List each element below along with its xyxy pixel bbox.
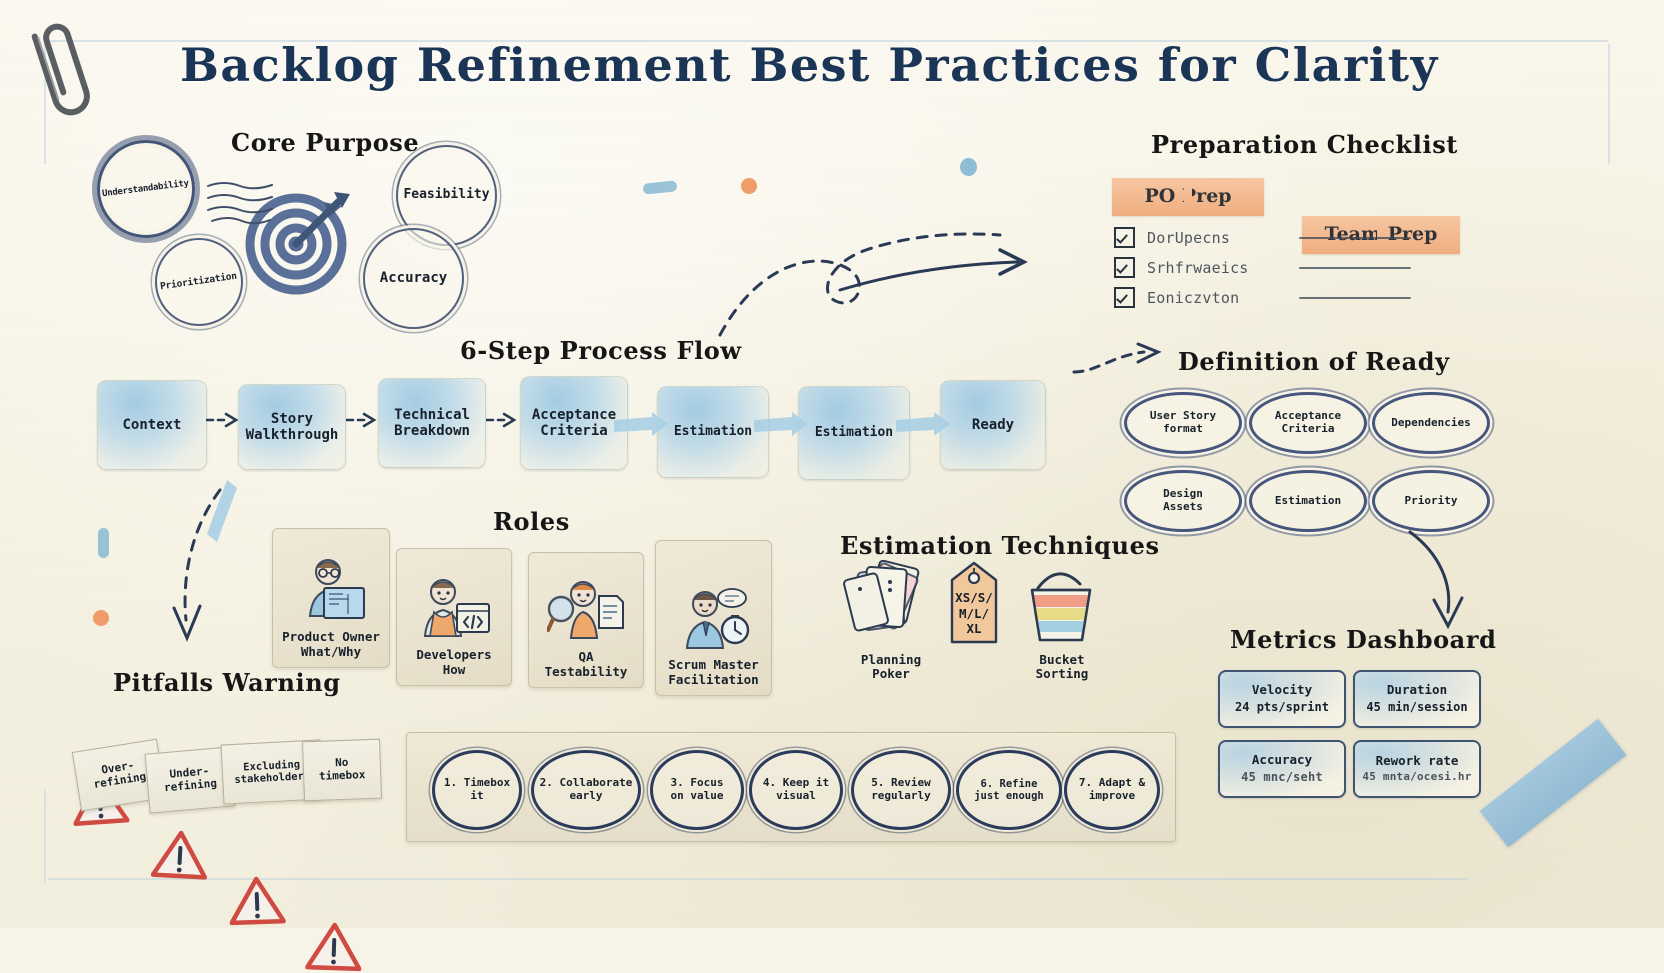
role-label-line1: QA	[578, 649, 593, 664]
role-label-line2: Facilitation	[668, 672, 758, 687]
dor-item-acceptance-criteria[interactable]: Acceptance Criteria	[1249, 392, 1367, 454]
tip-circle-5[interactable]: 5. Review regularly	[851, 750, 951, 830]
step-label-line2: Breakdown	[394, 423, 470, 439]
tip-label-line1: 7. Adapt &	[1079, 776, 1145, 789]
bucket-label-line2: Sorting	[1036, 666, 1089, 681]
pitfall-label-line2: refining	[93, 770, 147, 791]
tip-label-line2: early	[569, 789, 602, 802]
tip-circle-3[interactable]: 3. Focus on value	[650, 750, 744, 830]
pitfall-label-line1: No	[335, 756, 349, 769]
blue-brush-stroke-decoration	[205, 478, 239, 544]
tip-circle-6[interactable]: 6. Refine just enough	[956, 750, 1062, 830]
checklist-item-label: Eoniczvton	[1147, 289, 1287, 307]
checklist-write-line	[1299, 267, 1411, 269]
core-purpose-bubble-prioritization[interactable]: Prioritization	[155, 238, 243, 326]
dor-label-line2: format	[1163, 422, 1203, 435]
dor-item-user-story-format[interactable]: User Story format	[1124, 392, 1242, 454]
checklist-row[interactable]: Srhfrwaeics	[1114, 257, 1464, 278]
step-label-line1: Acceptance	[532, 407, 616, 423]
tip-label: 5. Review regularly	[871, 777, 931, 802]
tip-label-line1: 4. Keep it	[763, 776, 829, 789]
po-prep-label: PO Prep	[1144, 186, 1231, 208]
metrics-dashboard-heading: Metrics Dashboard	[1230, 625, 1496, 654]
planning-poker-cards-icon[interactable]	[843, 560, 939, 644]
tip-circle-7[interactable]: 7. Adapt & improve	[1064, 750, 1160, 830]
tip-label-line1: 6. Refine	[981, 778, 1038, 790]
tip-circle-4[interactable]: 4. Keep it visual	[749, 750, 843, 830]
dor-label-line1: User Story	[1150, 409, 1216, 422]
flow-connector-4-blue-arrow	[612, 412, 670, 438]
metric-value: 24 pts/sprint	[1235, 701, 1329, 715]
metric-card-accuracy[interactable]: Accuracy 45 mnc/seht	[1218, 740, 1346, 798]
bubble-label: Prioritization	[160, 271, 238, 293]
developer-icon	[415, 572, 493, 644]
metric-card-rework-rate[interactable]: Rework rate 45 mnta/ocesi.hr	[1353, 740, 1481, 798]
blue-capsule-decoration	[643, 180, 678, 194]
step-label: Story Walkthrough	[246, 411, 339, 443]
warning-triangle-icon	[228, 875, 286, 927]
flow-connector-1	[206, 408, 242, 430]
qa-icon	[547, 574, 625, 646]
tip-label-line2: regularly	[871, 789, 931, 802]
roles-heading: Roles	[493, 507, 570, 536]
warning-triangle-icon	[151, 829, 210, 882]
metric-name: Velocity	[1252, 683, 1312, 697]
tip-label: 6. Refine just enough	[974, 778, 1044, 802]
preparation-checklist-heading: Preparation Checklist	[1151, 130, 1458, 159]
product-owner-icon	[292, 554, 370, 626]
metric-value: 45 mnta/ocesi.hr	[1362, 771, 1471, 784]
dor-item-estimation[interactable]: Estimation	[1249, 470, 1367, 532]
bubble-label: Understandability	[102, 179, 190, 200]
role-label-line1: Product Owner	[282, 629, 380, 644]
checklist-write-line	[1299, 297, 1411, 299]
washi-tape-decoration	[1478, 760, 1628, 806]
role-label-line2: What/Why	[301, 644, 361, 659]
metric-name: Rework rate	[1376, 754, 1459, 768]
role-label: Product Owner What/Why	[282, 630, 380, 659]
dor-label: Estimation	[1275, 495, 1341, 508]
tag-line-2: M/L/	[959, 606, 989, 621]
role-card-scrum-master[interactable]: Scrum Master Facilitation	[655, 540, 772, 696]
role-label-line2: Testability	[545, 664, 628, 679]
planning-poker-label-line2: Poker	[872, 666, 910, 681]
scrum-master-icon	[675, 582, 753, 654]
tip-label-line2: visual	[776, 789, 816, 802]
tip-label-line1: 2. Collaborate	[540, 776, 633, 789]
tshirt-size-tag-text: XS/S/ M/L/ XL	[944, 590, 1004, 637]
step-label-line1: Technical	[394, 407, 470, 423]
dor-label-line1: Acceptance	[1275, 409, 1341, 422]
dor-item-dependencies[interactable]: Dependencies	[1372, 392, 1490, 454]
arrow-to-metrics-dashboard	[1400, 528, 1490, 636]
checklist-write-line	[1299, 237, 1411, 239]
process-step-technical-breakdown[interactable]: Technical Breakdown	[378, 378, 486, 468]
motion-lines-decoration	[206, 178, 276, 228]
tip-label-line1: 1. Timebox	[444, 776, 510, 789]
pitfall-note-no-timebox[interactable]: No timebox	[302, 739, 382, 802]
paperclip-icon	[16, 14, 106, 124]
bucket-label-line1: Bucket	[1039, 652, 1084, 667]
checkbox-checked-icon[interactable]	[1114, 227, 1135, 248]
flow-connector-3	[486, 408, 520, 430]
orange-dot-decoration-left	[93, 610, 109, 626]
role-card-developers[interactable]: Developers How	[396, 548, 512, 686]
dor-label: Dependencies	[1391, 417, 1470, 430]
tip-label: 1. Timebox it	[444, 777, 510, 802]
role-card-product-owner[interactable]: Product Owner What/Why	[272, 528, 390, 668]
tag-line-1: XS/S/	[955, 590, 993, 605]
checklist-item-label: Srhfrwaeics	[1147, 259, 1287, 277]
dor-label: Acceptance Criteria	[1275, 410, 1341, 435]
dor-label: Priority	[1405, 495, 1458, 508]
step-label: Ready	[972, 417, 1014, 433]
step-label: Acceptance Criteria	[532, 407, 616, 439]
process-step-story-walkthrough[interactable]: Story Walkthrough	[238, 384, 346, 470]
core-purpose-heading: Core Purpose	[231, 128, 419, 157]
core-purpose-bubble-understandability[interactable]: Understandability	[97, 140, 195, 238]
step-label: Technical Breakdown	[394, 407, 470, 439]
metric-value: 45 mnc/seht	[1241, 771, 1323, 785]
role-label-line1: Developers	[416, 647, 491, 662]
checklist-row[interactable]: Eoniczvton	[1114, 287, 1464, 308]
pitfall-label: Over- refining	[91, 758, 147, 791]
dor-label: Design Assets	[1163, 488, 1203, 513]
metric-card-velocity[interactable]: Velocity 24 pts/sprint	[1218, 670, 1346, 728]
blue-capsule-decoration-left	[98, 528, 109, 558]
tip-label: 3. Focus on value	[671, 777, 724, 802]
tip-label-line2: on value	[671, 789, 724, 802]
bubble-label: Feasibility	[403, 188, 489, 203]
role-card-qa[interactable]: QA Testability	[528, 552, 644, 688]
step-label-line2: Walkthrough	[246, 427, 339, 443]
arrow-to-definition-of-ready	[1072, 342, 1172, 378]
tip-circle-2[interactable]: 2. Collaborate early	[531, 750, 641, 830]
role-label: Scrum Master Facilitation	[668, 658, 758, 687]
process-step-ready[interactable]: Ready	[940, 380, 1046, 470]
role-label-line2: How	[443, 662, 466, 677]
checklist-row[interactable]: DorUpecns	[1114, 227, 1464, 248]
definition-of-ready-heading: Definition of Ready	[1178, 347, 1450, 376]
pitfall-label: No timebox	[318, 757, 365, 784]
checklist-item-label: DorUpecns	[1147, 229, 1287, 247]
tip-label: 7. Adapt & improve	[1079, 777, 1145, 802]
core-purpose-bubble-accuracy[interactable]: Accuracy	[363, 228, 464, 329]
dor-label: User Story format	[1150, 410, 1216, 435]
tip-label-line1: 5. Review	[871, 776, 931, 789]
checkbox-checked-icon[interactable]	[1114, 257, 1135, 278]
pitfall-label: Under- refining	[162, 765, 217, 795]
frame-rule-right	[1608, 44, 1610, 164]
dor-item-priority[interactable]: Priority	[1372, 470, 1490, 532]
dor-item-design-assets[interactable]: Design Assets	[1124, 470, 1242, 532]
step-label: Estimation	[815, 426, 893, 441]
pitfall-label-line2: timebox	[319, 768, 366, 783]
dor-label-line1: Design	[1163, 487, 1203, 500]
swoosh-arrow-to-checklist	[700, 190, 1060, 340]
step-label-line2: Criteria	[540, 423, 607, 439]
metric-card-duration[interactable]: Duration 45 min/session	[1353, 670, 1481, 728]
bucket-icon[interactable]	[1020, 562, 1102, 644]
step-label: Estimation	[674, 425, 752, 440]
dor-label-line2: Assets	[1163, 500, 1203, 513]
bucket-sorting-label: Bucket Sorting	[1016, 653, 1108, 682]
step-label: Context	[122, 417, 181, 433]
estimation-techniques-heading: Estimation Techniques	[840, 531, 1160, 560]
po-prep-tape-label[interactable]: PO Prep	[1112, 178, 1264, 216]
tip-label: 2. Collaborate early	[540, 777, 633, 802]
tip-label: 4. Keep it visual	[763, 777, 829, 802]
bubble-label: Accuracy	[380, 270, 447, 286]
role-label: Developers How	[416, 648, 491, 677]
tip-label-line2: just enough	[974, 790, 1044, 802]
tag-line-3: XL	[966, 621, 981, 636]
pitfall-label: Excluding stakeholders	[233, 758, 310, 786]
planning-poker-label: Planning Poker	[845, 653, 937, 682]
tip-label-line1: 3. Focus	[671, 776, 724, 789]
process-step-context[interactable]: Context	[97, 380, 207, 470]
flow-connector-5-blue-arrow	[752, 412, 810, 438]
metric-name: Accuracy	[1252, 753, 1312, 767]
role-label: QA Testability	[545, 650, 628, 679]
page-title: Backlog Refinement Best Practices for Cl…	[180, 38, 1439, 92]
flow-connector-6-blue-arrow	[894, 412, 952, 438]
metric-value: 45 min/session	[1366, 701, 1467, 715]
blue-dot-decoration	[960, 158, 977, 176]
tshirt-size-tag-icon[interactable]: XS/S/ M/L/ XL	[944, 560, 1004, 648]
process-flow-heading: 6-Step Process Flow	[460, 336, 742, 365]
planning-poker-label-line1: Planning	[861, 652, 921, 667]
metric-name: Duration	[1387, 683, 1447, 697]
step-label-line1: Story	[271, 411, 313, 427]
tip-label-line2: it	[470, 789, 483, 802]
tip-circle-1[interactable]: 1. Timebox it	[432, 750, 522, 830]
tip-label-line2: improve	[1089, 789, 1135, 802]
dor-label-line2: Criteria	[1282, 422, 1335, 435]
pitfalls-heading: Pitfalls Warning	[113, 668, 341, 697]
role-label-line1: Scrum Master	[668, 657, 758, 672]
flow-connector-2	[346, 408, 380, 430]
checkbox-checked-icon[interactable]	[1114, 287, 1135, 308]
warning-triangle-icon	[305, 921, 363, 973]
frame-rule-bottom-left	[44, 790, 46, 882]
pitfall-label-line2: stakeholders	[234, 770, 310, 786]
